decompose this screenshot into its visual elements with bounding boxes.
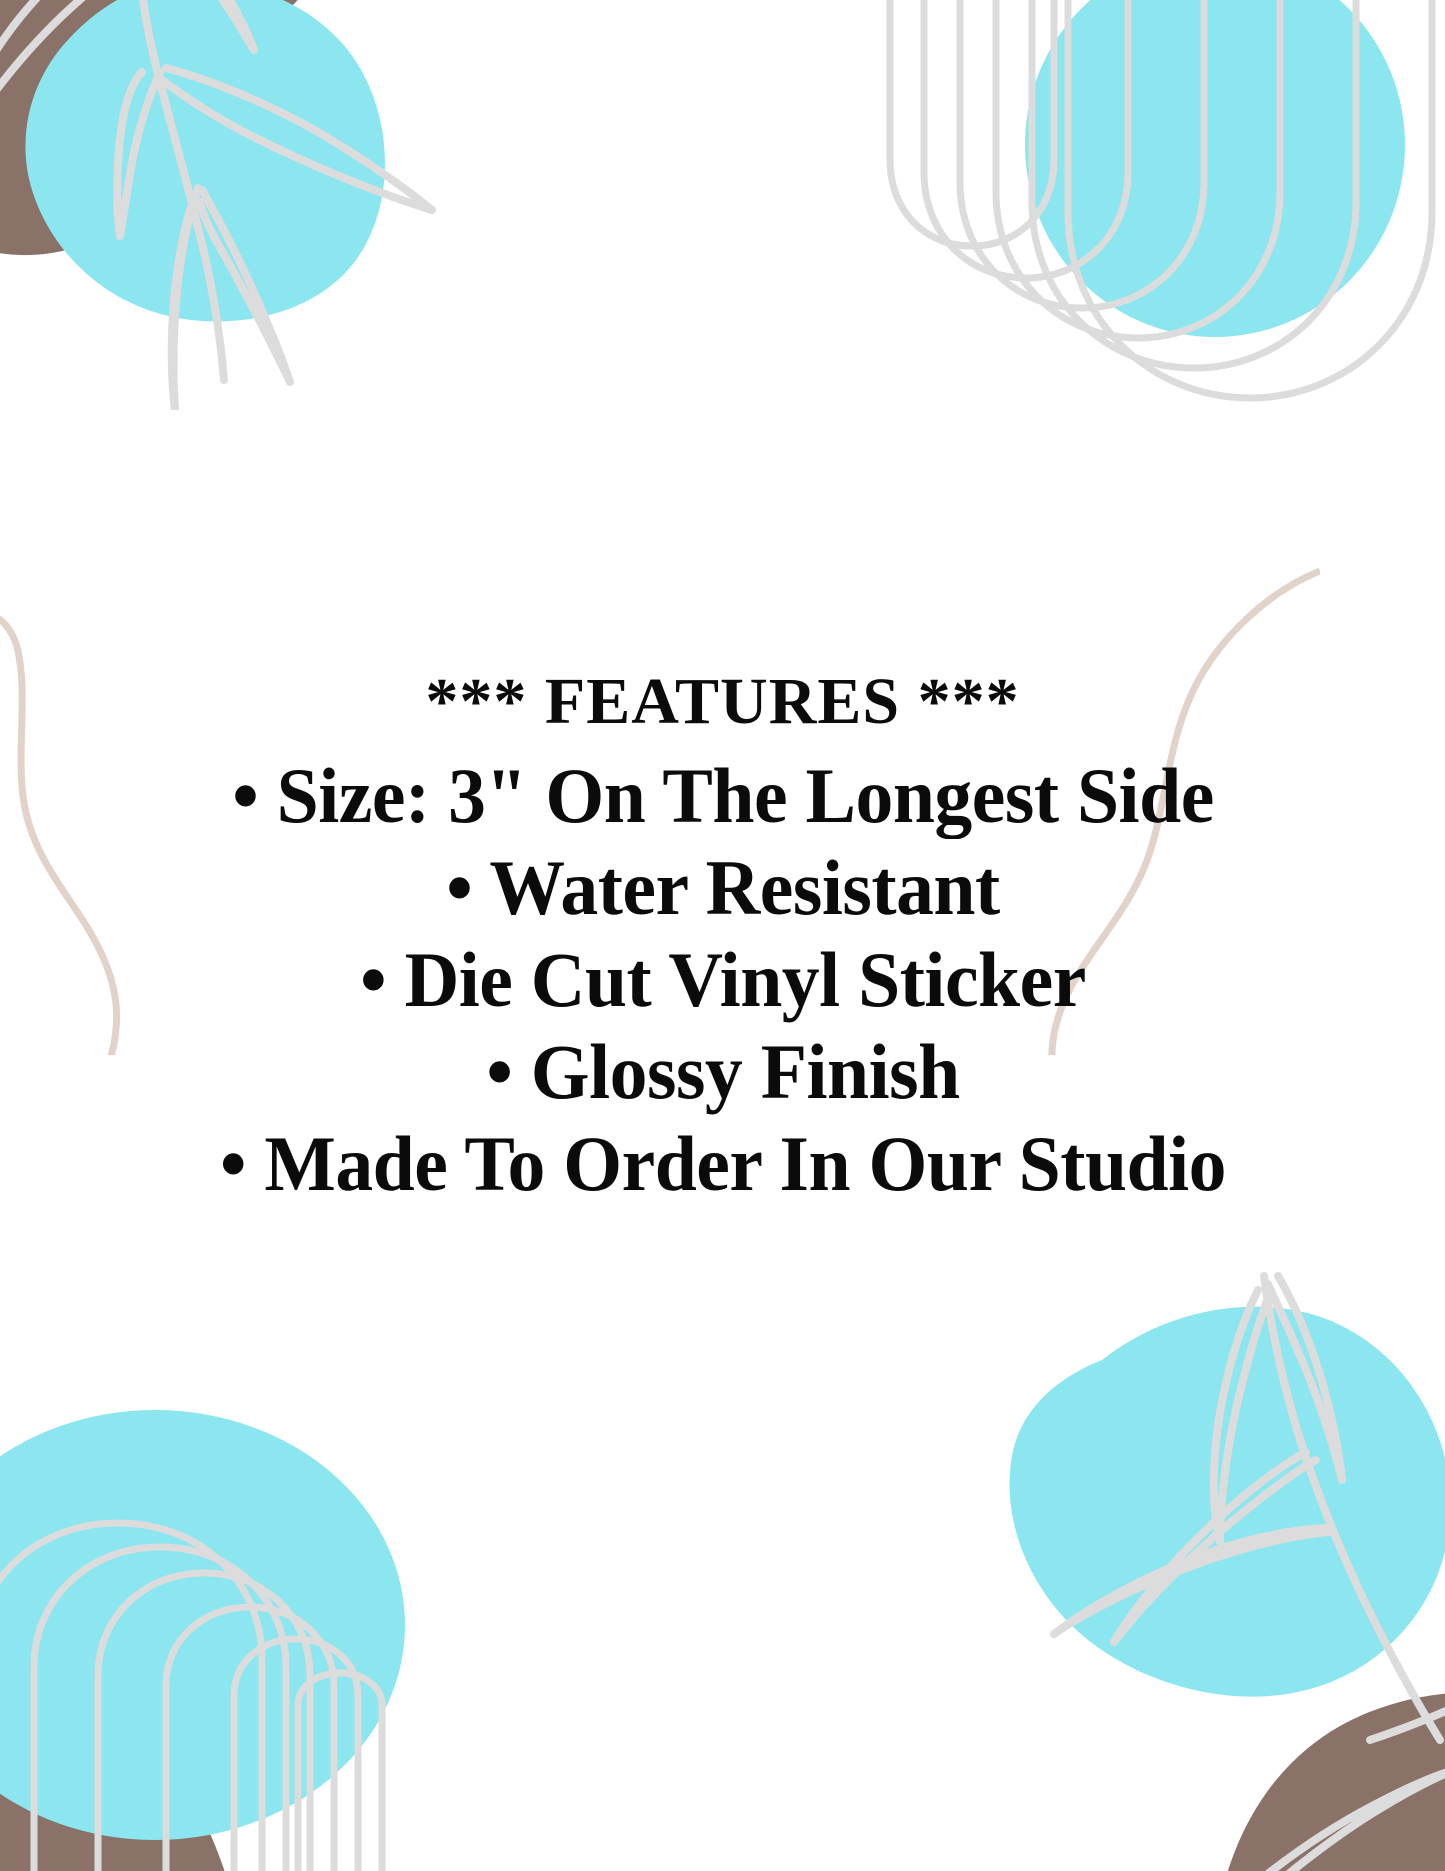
features-content: *** FEATURES *** • Size: 3" On The Longe… <box>0 0 1445 1871</box>
feature-item-water-resistant: • Water Resistant <box>73 849 1373 927</box>
features-block: *** FEATURES *** • Size: 3" On The Longe… <box>53 669 1393 1203</box>
features-poster: *** FEATURES *** • Size: 3" On The Longe… <box>0 0 1445 1871</box>
features-heading: *** FEATURES *** <box>53 669 1393 735</box>
feature-item-made-to-order: • Made To Order In Our Studio <box>73 1125 1373 1203</box>
feature-item-die-cut-vinyl-sticker: • Die Cut Vinyl Sticker <box>73 941 1373 1019</box>
feature-item-glossy-finish: • Glossy Finish <box>73 1033 1373 1111</box>
feature-item-size: • Size: 3" On The Longest Side <box>73 757 1373 835</box>
